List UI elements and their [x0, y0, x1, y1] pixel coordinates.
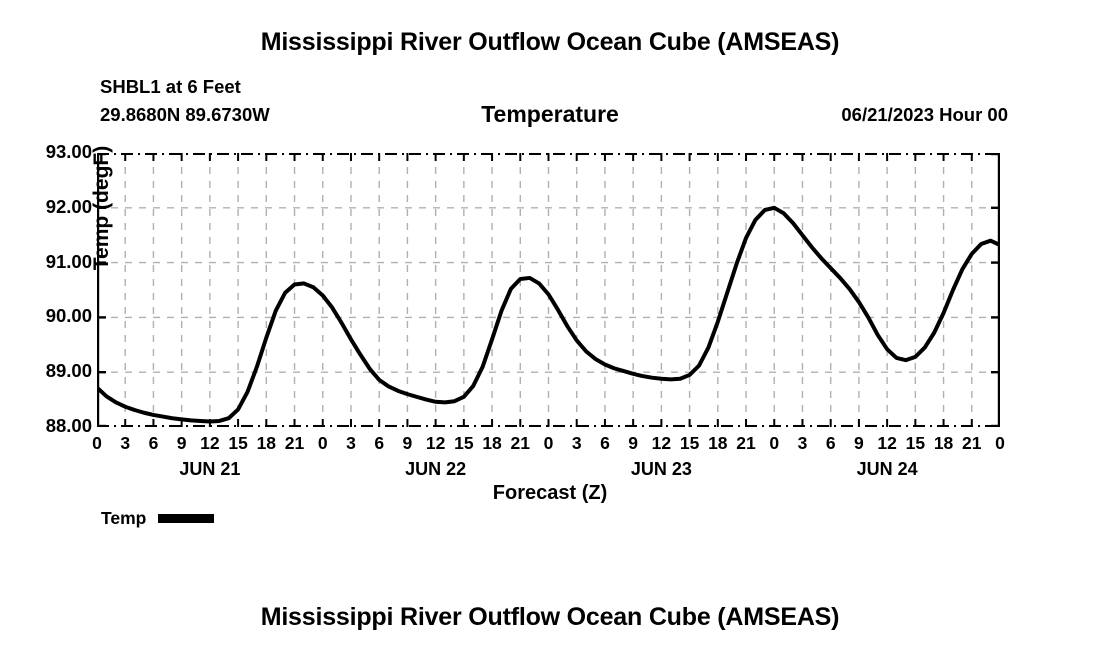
- station-label: SHBL1 at 6 Feet: [100, 76, 241, 98]
- y-tick-label: 91.00: [2, 253, 92, 272]
- chart-page: Mississippi River Outflow Ocean Cube (AM…: [0, 0, 1100, 650]
- legend: Temp: [101, 508, 214, 529]
- y-tick-label: 90.00: [2, 307, 92, 326]
- y-axis-ticks: 88.0089.0090.0091.0092.0093.00: [0, 0, 92, 650]
- x-axis-day-label: JUN 21: [130, 459, 290, 480]
- y-tick-label: 88.00: [2, 417, 92, 436]
- x-axis-day-label: JUN 22: [356, 459, 516, 480]
- legend-label-temp: Temp: [101, 508, 146, 529]
- x-axis-title: Forecast (Z): [0, 482, 1100, 505]
- x-tick-label: 0: [983, 433, 1017, 454]
- temperature-line-chart: [97, 153, 1000, 427]
- page-title: Mississippi River Outflow Ocean Cube (AM…: [0, 28, 1100, 57]
- x-axis-day-label: JUN 23: [581, 459, 741, 480]
- plot-area: [97, 153, 1000, 427]
- legend-swatch-temp: [158, 514, 214, 523]
- x-axis-day-label: JUN 24: [807, 459, 967, 480]
- y-tick-label: 93.00: [2, 143, 92, 162]
- y-tick-label: 89.00: [2, 362, 92, 381]
- footer-title: Mississippi River Outflow Ocean Cube (AM…: [0, 603, 1100, 632]
- y-tick-label: 92.00: [2, 198, 92, 217]
- model-run-label: 06/21/2023 Hour 00: [841, 104, 1008, 126]
